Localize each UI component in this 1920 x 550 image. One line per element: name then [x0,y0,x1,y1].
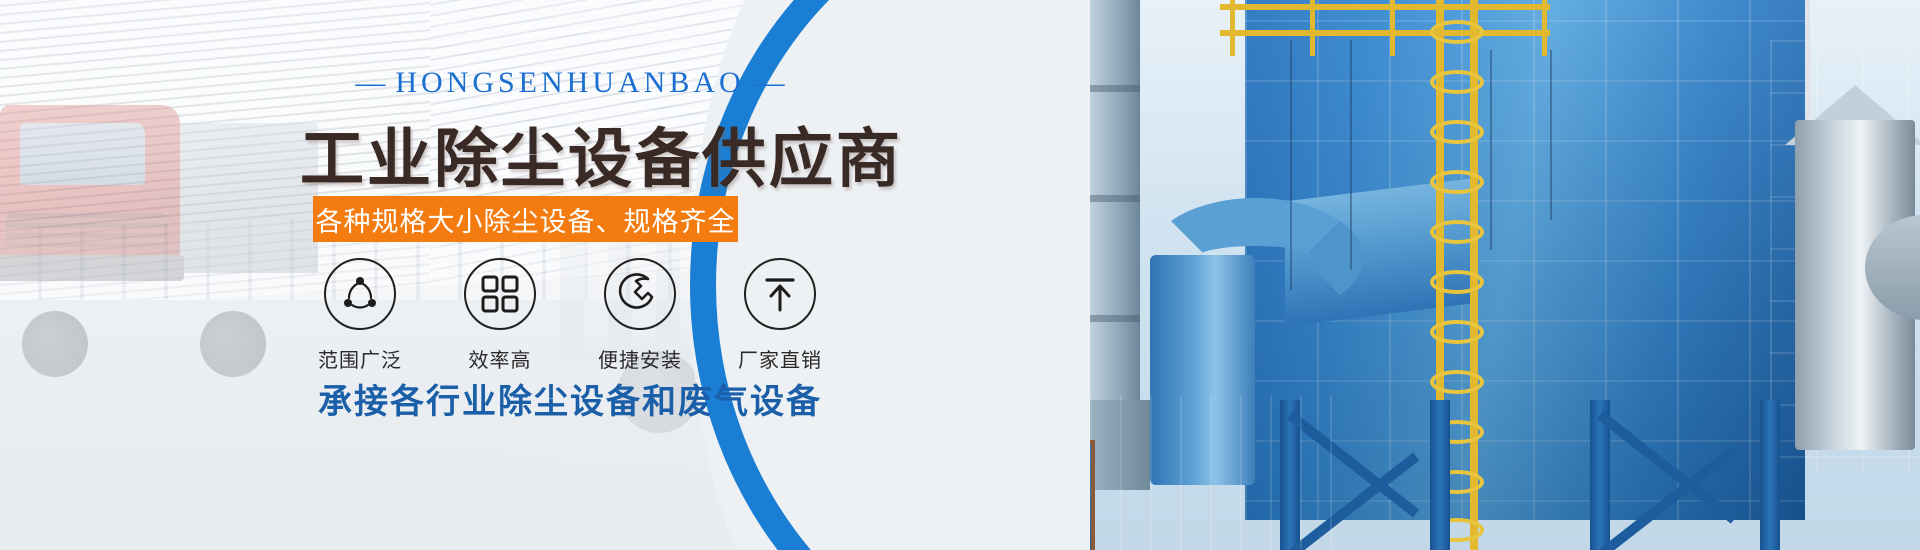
ladder-cage-hoop [1430,320,1484,344]
banner-content: —HONGSENHUANBAO— 工业除尘设备供应商 各种规格大小除尘设备、规格… [0,0,1080,550]
page-title: 工业除尘设备供应商 [300,108,840,200]
support-leg [1760,400,1780,550]
hanging-wire [1490,50,1492,250]
handrail-bar [1220,4,1550,10]
handrail-bar [1220,30,1550,36]
badge-label: 各种规格大小除尘设备、规格齐全 [316,200,736,239]
feature-label: 便捷安装 [598,344,682,373]
hanging-wire [1550,50,1552,220]
eyebrow-text: HONGSENHUANBAO [395,66,744,99]
ladder-cage-hoop [1430,20,1484,44]
eyebrow-dash-left: — [345,66,395,99]
feature-list: 范围广泛 效率高 [300,258,840,373]
brand-eyebrow: —HONGSENHUANBAO— [300,66,840,100]
handrail-post [1310,0,1315,56]
feature-item-direct-sales[interactable]: 厂家直销 [720,258,840,373]
ladder-cage-hoop [1430,70,1484,94]
up-arrow-icon [744,258,816,330]
ladder-cage-hoop [1430,370,1484,394]
feature-item-efficiency[interactable]: 效率高 [440,258,560,373]
tagline: 承接各行业除尘设备和废气设备 [300,374,840,423]
ladder-cage-hoop [1430,120,1484,144]
ladder-cage-hoop [1430,170,1484,194]
handrail-post [1230,0,1235,56]
support-leg [1430,400,1450,550]
handrail-post [1390,0,1395,56]
roof-handrail [1220,0,1550,60]
network-nodes-icon [324,258,396,330]
eyebrow-dash-right: — [745,66,795,99]
feature-item-installation[interactable]: 便捷安装 [580,258,700,373]
feature-item-range[interactable]: 范围广泛 [300,258,420,373]
wrench-circle-icon [604,258,676,330]
ladder-cage-hoop [1430,270,1484,294]
feature-label: 范围广泛 [318,344,402,373]
handrail-post [1542,0,1547,56]
hero-banner: 宏 森 保 13132 7001 [0,0,1920,550]
hanging-wire [1290,40,1292,290]
feature-label: 厂家直销 [738,344,822,373]
grid-squares-icon [464,258,536,330]
status-badge: 各种规格大小除尘设备、规格齐全 [313,196,738,242]
ladder-cage-hoop [1430,220,1484,244]
feature-label: 效率高 [469,344,532,373]
hanging-wire [1350,40,1352,270]
